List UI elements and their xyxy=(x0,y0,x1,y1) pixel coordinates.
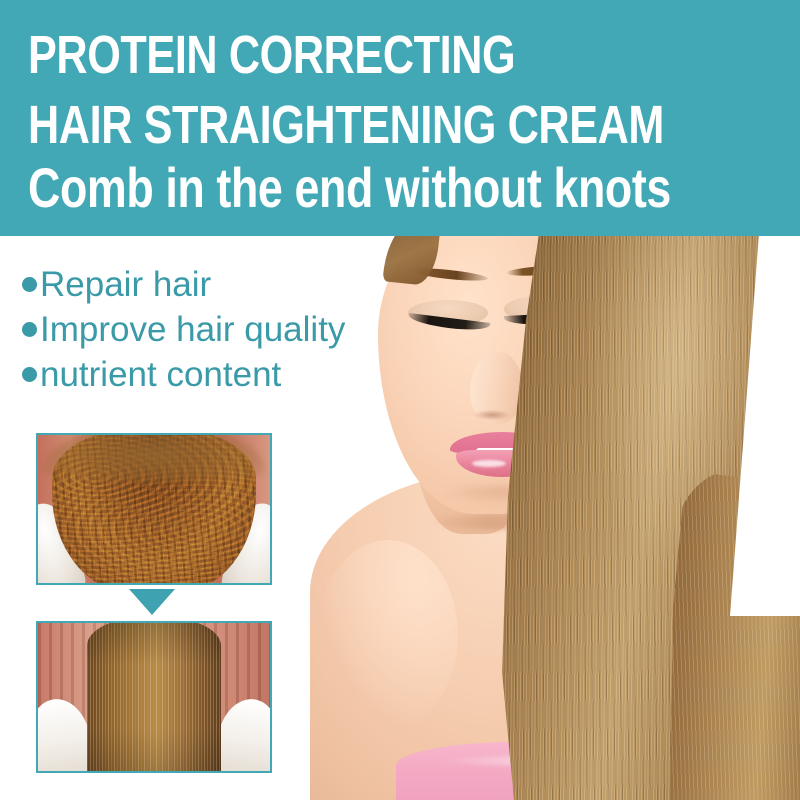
benefit-label: Repair hair xyxy=(40,267,211,302)
frizz-halo xyxy=(43,433,266,482)
benefit-label: Improve hair quality xyxy=(40,312,345,347)
headline-line-3: Comb in the end without knots xyxy=(28,160,671,216)
bullet-dot-icon xyxy=(22,277,37,292)
product-ad-banner: PROTEIN CORRECTING HAIR STRAIGHTENING CR… xyxy=(0,0,800,800)
after-photo xyxy=(36,621,272,773)
before-photo xyxy=(36,433,272,585)
benefits-list: Repair hair Improve hair quality nutrien… xyxy=(22,262,345,397)
nostril-shading xyxy=(474,410,510,420)
arrow-down-icon xyxy=(129,589,175,615)
list-item: nutrient content xyxy=(22,352,345,397)
list-item: Improve hair quality xyxy=(22,307,345,352)
headline-line-1: PROTEIN CORRECTING xyxy=(28,28,515,82)
list-item: Repair hair xyxy=(22,262,345,307)
shoulder-highlight xyxy=(318,540,458,730)
headline-line-2: HAIR STRAIGHTENING CREAM xyxy=(28,98,664,152)
bullet-dot-icon xyxy=(22,367,37,382)
lip-gloss-highlight xyxy=(472,460,506,467)
benefit-label: nutrient content xyxy=(40,357,281,392)
header-band: PROTEIN CORRECTING HAIR STRAIGHTENING CR… xyxy=(0,0,800,236)
bullet-dot-icon xyxy=(22,322,37,337)
straight-hair xyxy=(87,621,222,773)
